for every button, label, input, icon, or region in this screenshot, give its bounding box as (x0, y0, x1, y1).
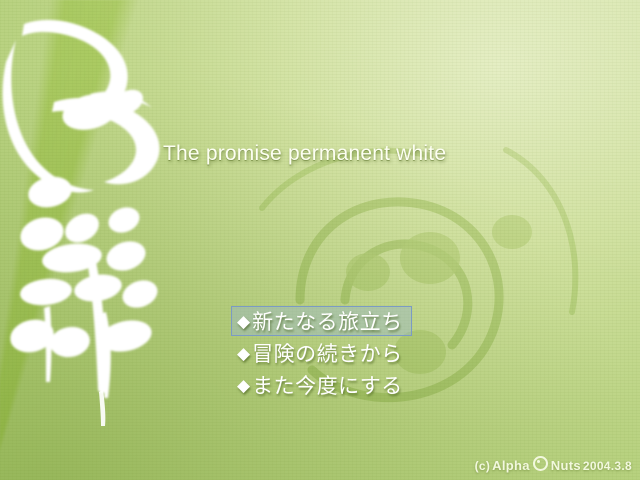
copyright-symbol: (c) (475, 459, 491, 473)
diamond-bullet-icon: ◆ (237, 377, 250, 394)
menu-item-new-game[interactable]: ◆ 新たなる旅立ち (231, 306, 412, 336)
calligraphy-title-art (0, 6, 204, 426)
title-screen: The promise permanent white ◆ 新たなる旅立ち ◆ … (0, 0, 640, 480)
menu-item-label: 新たなる旅立ち (252, 306, 403, 336)
background-vignette (0, 0, 640, 480)
copyright-notice: (c) Alpha Nuts 2004.3.8 (475, 455, 632, 473)
brand-name-first: Alpha (492, 458, 530, 473)
menu-item-continue[interactable]: ◆ 冒険の続きから (231, 338, 412, 368)
circle-swirl-logo-icon (533, 456, 548, 471)
background-paper-grain (0, 0, 640, 480)
menu-item-label: また今度にする (252, 370, 403, 400)
menu-item-label: 冒険の続きから (252, 338, 403, 368)
diamond-bullet-icon: ◆ (237, 345, 250, 362)
diamond-bullet-icon: ◆ (237, 313, 250, 330)
release-date: 2004.3.8 (583, 459, 632, 473)
menu-item-quit[interactable]: ◆ また今度にする (231, 370, 412, 400)
background-bands-dark (0, 0, 640, 480)
brand-name-second: Nuts (551, 458, 581, 473)
background-base (0, 0, 640, 480)
main-menu: ◆ 新たなる旅立ち ◆ 冒険の続きから ◆ また今度にする (231, 306, 412, 402)
background-bands-light (0, 0, 640, 480)
background-spiral-motif (0, 0, 640, 480)
subtitle-text: The promise permanent white (163, 142, 446, 166)
